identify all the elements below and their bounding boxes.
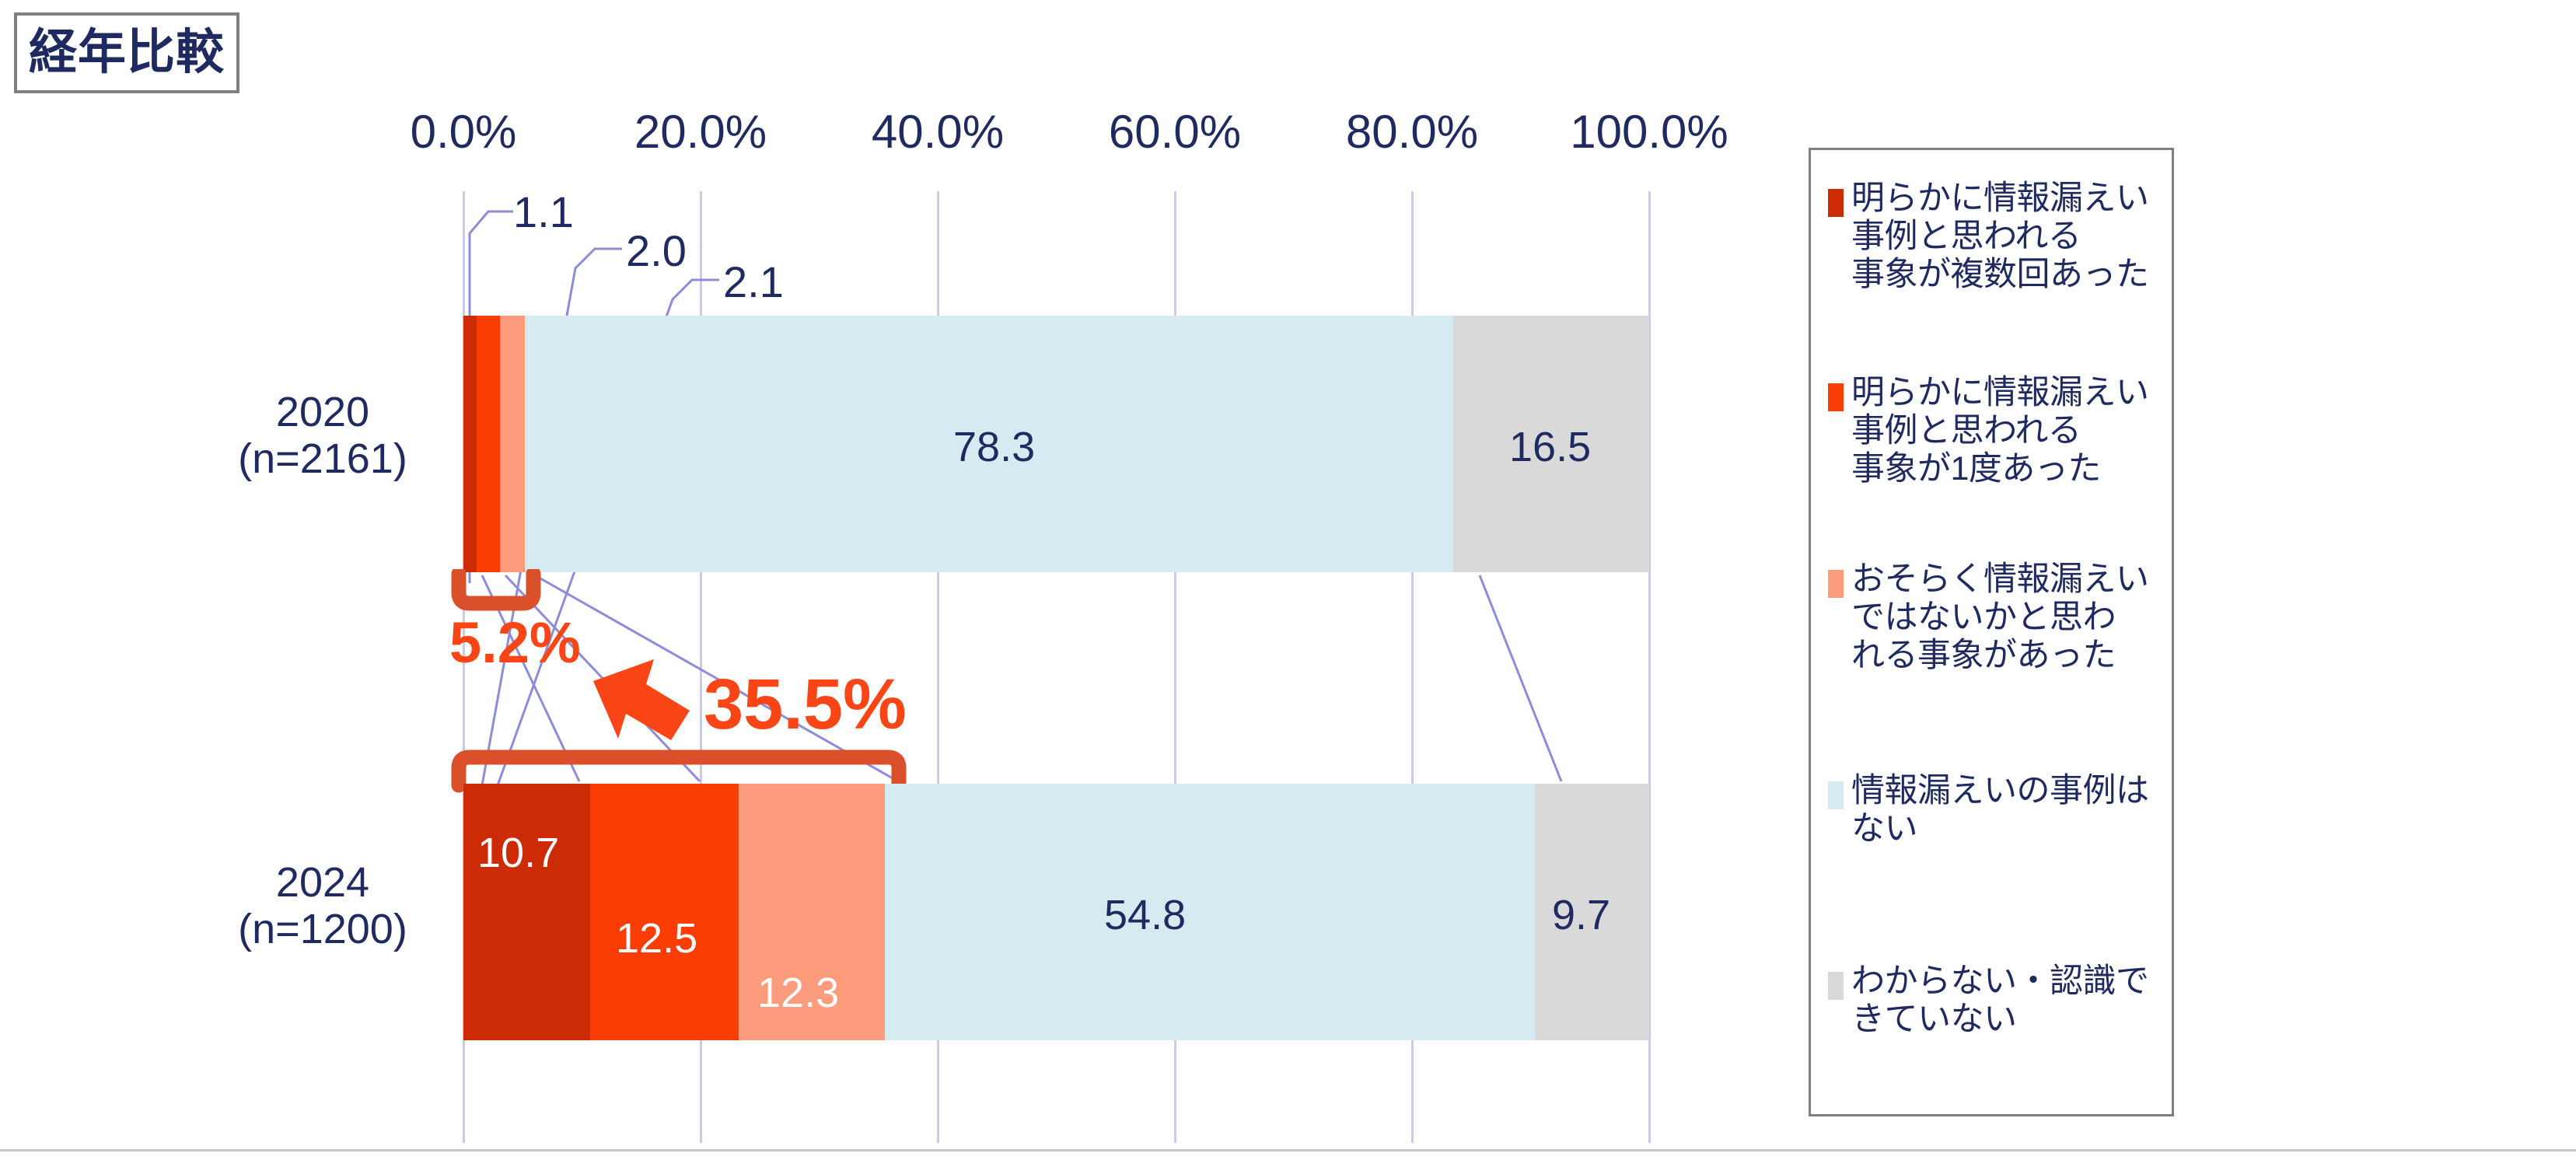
legend-swatch-icon-4 bbox=[1828, 972, 1844, 1000]
x-axis-tick-3: 60.0% bbox=[1109, 105, 1241, 159]
callout-2020-seg2: 2.0 bbox=[626, 225, 687, 276]
legend-label-1: 明らかに情報漏えい事例と思われる 事象が1度あった bbox=[1851, 374, 2162, 488]
bar-2020-label-4: 78.3 bbox=[953, 423, 1035, 471]
bracket-2020 bbox=[451, 569, 575, 616]
delta-from-label: 5.2% bbox=[449, 614, 581, 672]
bar-2020-label-5: 16.5 bbox=[1509, 423, 1591, 471]
legend-label-2: おそらく情報漏えいではないかと思わ れる事象があった bbox=[1851, 561, 2162, 675]
legend-item-3[interactable]: 情報漏えいの事例はない bbox=[1828, 772, 2162, 848]
legend-label-1-line1: 明らかに情報漏えい事例と思われる bbox=[1851, 374, 2149, 449]
category-label-2020-line1: 2020 bbox=[194, 389, 451, 435]
legend-item-0[interactable]: 明らかに情報漏えい事例と思われる 事象が複数回あった bbox=[1828, 180, 2162, 294]
legend-label-2-line2: れる事象があった bbox=[1851, 637, 2116, 674]
legend-label-0: 明らかに情報漏えい事例と思われる 事象が複数回あった bbox=[1851, 180, 2162, 294]
category-label-2020-line2: (n=2161) bbox=[194, 435, 451, 482]
x-axis-tick-2: 40.0% bbox=[872, 105, 1004, 159]
category-label-2024-line1: 2024 bbox=[194, 859, 451, 906]
bar-2024-label-3: 12.3 bbox=[757, 969, 839, 1017]
legend-swatch-icon-1 bbox=[1828, 383, 1844, 411]
bar-2024-label-1: 10.7 bbox=[477, 829, 559, 877]
legend-label-4-line1: わからない・認識できていない bbox=[1851, 963, 2149, 1038]
legend-item-4[interactable]: わからない・認識できていない bbox=[1828, 963, 2162, 1039]
legend-label-4: わからない・認識できていない bbox=[1851, 963, 2162, 1039]
bar-2020-segment-1 bbox=[463, 316, 477, 572]
x-axis-tick-5: 100.0% bbox=[1570, 105, 1728, 159]
bar-2024-segment-2 bbox=[590, 784, 739, 1040]
bar-2024-segment-4 bbox=[885, 784, 1535, 1040]
legend-swatch-icon-3 bbox=[1828, 781, 1844, 809]
legend-label-2-line1: おそらく情報漏えいではないかと思わ bbox=[1851, 561, 2149, 636]
bar-2020-segment-2 bbox=[477, 316, 500, 572]
legend-item-2[interactable]: おそらく情報漏えいではないかと思わ れる事象があった bbox=[1828, 561, 2162, 675]
callout-2020-seg1: 1.1 bbox=[513, 187, 574, 237]
bar-2024-segment-1 bbox=[463, 784, 590, 1040]
bar-2024-label-5: 9.7 bbox=[1552, 891, 1610, 939]
legend-label-3-line1: 情報漏えいの事例はない bbox=[1851, 772, 2149, 847]
x-axis-tick-0: 0.0% bbox=[411, 105, 517, 159]
plot-bottom-rule bbox=[0, 1149, 2576, 1151]
legend-swatch-icon-2 bbox=[1828, 570, 1844, 598]
chart-legend: 明らかに情報漏えい事例と思われる 事象が複数回あった 明らかに情報漏えい事例と思… bbox=[1809, 148, 2174, 1116]
legend-swatch-icon-0 bbox=[1828, 189, 1844, 217]
legend-label-0-line2: 事象が複数回あった bbox=[1851, 256, 2149, 293]
category-label-2024-line2: (n=1200) bbox=[194, 906, 451, 952]
callout-2020-seg3: 2.1 bbox=[723, 257, 784, 307]
legend-label-1-line2: 事象が1度あった bbox=[1851, 450, 2101, 487]
stacked-bar-chart: 0.0% 20.0% 40.0% 60.0% 80.0% 100.0% 1.1 … bbox=[0, 0, 1788, 1160]
bar-2020: 78.3 16.5 bbox=[463, 316, 1649, 572]
x-axis-tick-1: 20.0% bbox=[634, 105, 767, 159]
bar-2020-segment-3 bbox=[500, 316, 525, 572]
bar-2024: 10.7 12.5 12.3 54.8 9.7 bbox=[463, 784, 1649, 1040]
bar-2024-label-2: 12.5 bbox=[616, 914, 697, 963]
x-axis-tick-4: 80.0% bbox=[1346, 105, 1478, 159]
legend-label-0-line1: 明らかに情報漏えい事例と思われる bbox=[1851, 180, 2149, 255]
delta-to-label: 35.5% bbox=[704, 669, 907, 740]
legend-item-1[interactable]: 明らかに情報漏えい事例と思われる 事象が1度あった bbox=[1828, 374, 2162, 488]
legend-label-3: 情報漏えいの事例はない bbox=[1851, 772, 2162, 848]
category-label-2024: 2024 (n=1200) bbox=[194, 859, 451, 953]
bar-2024-label-4: 54.8 bbox=[1104, 891, 1186, 939]
category-label-2020: 2020 (n=2161) bbox=[194, 389, 451, 483]
